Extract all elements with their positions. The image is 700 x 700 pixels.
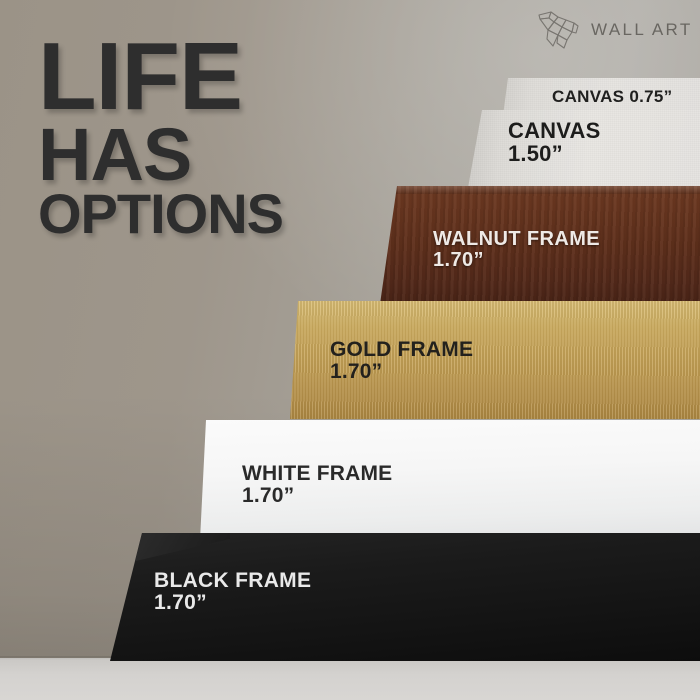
option-label-walnut-frame: WALNUT FRAME 1.70”	[433, 229, 600, 271]
option-panel-black-frame[interactable]: BLACK FRAME 1.70”	[110, 533, 700, 661]
option-title: CANVAS	[508, 120, 600, 143]
option-depth: 1.70”	[154, 592, 311, 614]
brand-logo[interactable]: WALL ART	[536, 10, 693, 50]
option-title: CANVAS 0.75”	[552, 88, 672, 106]
brand-name: WALL ART	[591, 20, 693, 40]
option-label-canvas-150: CANVAS 1.50”	[508, 120, 600, 166]
option-depth: 1.70”	[330, 361, 473, 383]
option-panel-white-frame[interactable]: WHITE FRAME 1.70”	[200, 420, 700, 540]
walnut-top-bevel	[380, 186, 700, 194]
option-panel-gold-frame[interactable]: GOLD FRAME 1.70”	[290, 301, 700, 419]
product-options-poster: LIFE HAS OPTIONS WALL ART CANVAS 0.75	[0, 0, 700, 700]
option-label-white-frame: WHITE FRAME 1.70”	[242, 463, 392, 507]
option-label-canvas-075: CANVAS 0.75”	[552, 88, 672, 106]
option-panel-walnut-frame[interactable]: WALNUT FRAME 1.70”	[380, 186, 700, 304]
headline-line-3: OPTIONS	[38, 190, 398, 238]
floor-surface	[0, 658, 700, 700]
option-depth: 1.70”	[433, 250, 600, 271]
headline-line-2: HAS	[38, 123, 398, 187]
page-title: LIFE HAS OPTIONS	[38, 36, 398, 238]
option-label-gold-frame: GOLD FRAME 1.70”	[330, 339, 473, 383]
option-label-black-frame: BLACK FRAME 1.70”	[154, 570, 311, 614]
option-depth: 1.50”	[508, 143, 600, 166]
option-depth: 1.70”	[242, 485, 392, 507]
option-title: WALNUT FRAME	[433, 229, 600, 250]
origami-goat-icon	[536, 10, 582, 50]
option-title: WHITE FRAME	[242, 463, 392, 485]
option-title: BLACK FRAME	[154, 570, 311, 592]
option-title: GOLD FRAME	[330, 339, 473, 361]
headline-line-1: LIFE	[38, 36, 398, 119]
